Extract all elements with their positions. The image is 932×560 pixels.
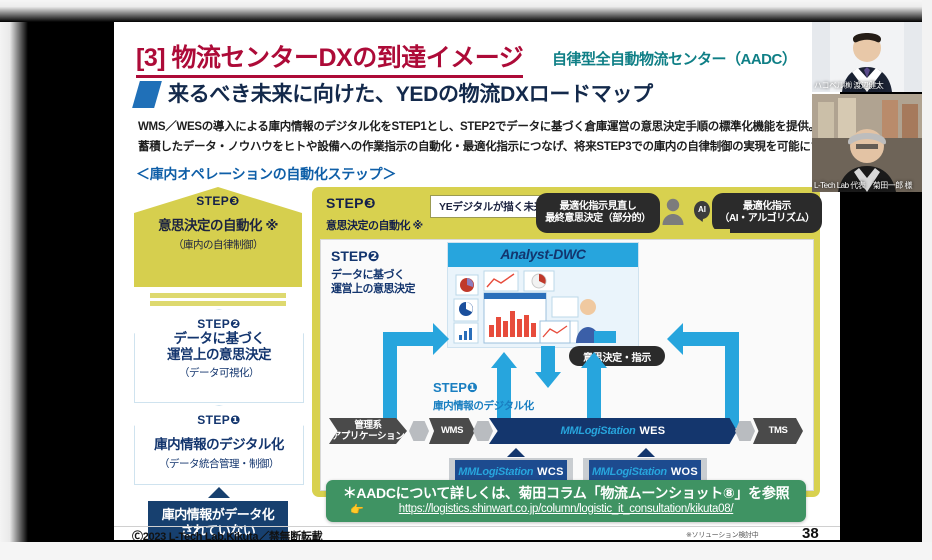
participant-tile-1[interactable]: ハコベル㈱ 渡辺健太 [812, 22, 922, 92]
ladder-step2-sub: （データ可視化） [135, 365, 303, 380]
ladder-divider-strip-2 [150, 301, 286, 306]
ladder-up-arrow-icon [208, 487, 230, 498]
analyst-dwc-card: Analyst-DWC [447, 242, 639, 348]
body-paragraph-line-2: 蓄積したデータ・ノウハウをヒトや設備への作業指示の自動化・最適化指示につなげ、将… [138, 138, 840, 154]
wes-brand: MMLogiStation [561, 425, 636, 437]
reference-banner-url[interactable]: https://logistics.shinwart.co.jp/column/… [326, 503, 806, 515]
diagram-step2-label: STEP❷ [331, 248, 379, 265]
page-title: [3] 物流センターDXの到達イメージ [136, 38, 523, 78]
diagram-step3-label: STEP❸ [326, 195, 376, 212]
blue-arrow-left-top [383, 332, 437, 346]
ladder-step2-title-2: 運営上の意思決定 [135, 347, 303, 363]
ladder-step3-label: STEP❸ [134, 194, 302, 208]
footnote-text: ※ソリューション検討中 [686, 530, 758, 540]
ladder-step2: STEP❷ データに基づく 運営上の意思決定 （データ可視化） [134, 309, 304, 403]
blue-arrow-right-top [683, 332, 739, 346]
pill-optimize-ai: 最適化指示 （AI・アルゴリズム） [712, 193, 822, 233]
lead-accent-bar [132, 81, 162, 108]
wcs-up-arrow-icon [507, 448, 525, 457]
reference-banner: ＊AADCについて詳しくは、菊田コラム「物流ムーンショット⑧」を参照 👉 htt… [326, 480, 806, 522]
ladder-step1-title: 庫内情報のデジタル化 [135, 433, 303, 453]
chain-wms: WMS [429, 418, 475, 444]
ladder-step1-sub: （データ統合管理・制御） [135, 456, 303, 471]
wcs-suffix: WCS [537, 466, 564, 478]
participant-1-name: ハコベル㈱ 渡辺健太 [814, 80, 883, 91]
ladder-divider-strip-1 [150, 293, 286, 298]
video-conference-viewer: [3] 物流センターDXの到達イメージ 自律型全自動物流センター（AADC） 来… [0, 0, 932, 560]
blue-arrow-down-shaft [541, 346, 555, 374]
svg-text:AI: AI [698, 205, 706, 214]
blue-arrow-down-head [535, 372, 561, 388]
chain-connector-1 [409, 421, 429, 441]
participant-2-name: L-Tech Lab 代表 菊田一郎 様 [814, 180, 912, 191]
participant-2-video [812, 94, 922, 192]
diagram-step2-sub-1: データに基づく [331, 268, 405, 282]
blue-arrow-up-head-1 [491, 352, 517, 368]
wos-brand: MMLogiStation [592, 466, 667, 478]
ladder-step3: STEP❸ 意思決定の自動化 ※ （庫内の自律制御） [134, 187, 302, 287]
ladder-step3-title: 意思決定の自動化 ※ [134, 214, 302, 234]
participant-tile-2[interactable]: L-Tech Lab 代表 菊田一郎 様 [812, 94, 922, 192]
future-vision-badge: YEデジタルが描く未来 [430, 195, 553, 218]
wcs-brand: MMLogiStation [458, 466, 533, 478]
automation-diagram: STEP❸ 意思決定の自動化 ※ YEデジタルが描く未来 最適化指示見直し 最終… [312, 187, 820, 497]
analyst-dwc-screenshot [448, 269, 638, 347]
diagram-step1-sub: 庫内情報のデジタル化 [433, 398, 534, 413]
section-label: ＜庫内オペレーションの自動化ステップ＞ [136, 164, 396, 184]
lead-heading: 来るべき未来に向けた、YEDの物流DXロードマップ [136, 78, 836, 112]
chain-wes: MMLogiStation WES [489, 418, 737, 444]
presentation-slide: [3] 物流センターDXの到達イメージ 自律型全自動物流センター（AADC） 来… [114, 22, 840, 540]
chain-admin-app: 管理系 アプリケーション [329, 418, 407, 444]
ladder-step1: STEP❶ 庫内情報のデジタル化 （データ統合管理・制御） [134, 405, 304, 485]
copyright-text: Ⓒ2023 L-Tech Lab,Kikuta／禁無断転載 [132, 528, 322, 540]
blue-arrow-head-left [667, 323, 683, 355]
viewer-bottom-edge [0, 542, 932, 560]
ladder-step2-label: STEP❷ [135, 317, 303, 331]
viewer-left-edge [0, 0, 28, 560]
participant-tiles: ハコベル㈱ 渡辺健太 L-Tech Lab 代表 菊田一郎 様 [812, 22, 922, 192]
slide-header: [3] 物流センターDXの到達イメージ 自律型全自動物流センター（AADC） [136, 38, 826, 72]
screen-share-stage: [3] 物流センターDXの到達イメージ 自律型全自動物流センター（AADC） 来… [28, 22, 922, 542]
blue-arrow-head-right [433, 323, 449, 355]
lead-heading-text: 来るべき未来に向けた、YEDの物流DXロードマップ [168, 78, 653, 108]
diagram-step3-sub: 意思決定の自動化 ※ [326, 217, 423, 233]
diagram-inner-panel: STEP❷ データに基づく 運営上の意思決定 Analyst-DWC [320, 239, 814, 491]
wes-suffix: WES [639, 425, 665, 437]
wos-suffix: WOS [671, 466, 698, 478]
page-number: 38 [802, 525, 819, 540]
ladder-step3-sub: （庫内の自律制御） [134, 237, 302, 252]
footer-divider [114, 526, 840, 527]
ai-brain-icon: AI [690, 197, 714, 223]
pill-optimize-review: 最適化指示見直し 最終意思決定（部分的） [536, 193, 660, 233]
ladder-step1-label: STEP❶ [135, 413, 303, 427]
person-icon [660, 197, 686, 225]
blue-arrow-left-shaft [383, 332, 397, 428]
chain-connector-2 [473, 421, 493, 441]
blue-arrow-right-shaft [725, 332, 739, 428]
viewer-right-edge [922, 0, 932, 560]
body-paragraph-line-1: WMS／WESの導入による庫内情報のデジタル化をSTEP1とし、STEP2でデー… [138, 118, 820, 134]
analyst-dwc-title: Analyst-DWC [448, 246, 638, 262]
diagram-step1-label: STEP❶ [433, 380, 478, 396]
viewer-top-edge [0, 0, 932, 22]
wos-up-arrow-icon [637, 448, 655, 457]
chain-tms: TMS [753, 418, 803, 444]
reference-banner-text: ＊AADCについて詳しくは、菊田コラム「物流ムーンショット⑧」を参照 [326, 483, 806, 503]
ladder-step2-title-1: データに基づく [135, 331, 303, 347]
automation-steps-ladder: STEP❸ 意思決定の自動化 ※ （庫内の自律制御） STEP❷ データに基づく… [134, 187, 304, 517]
blue-arrow-up-head-2 [581, 352, 607, 368]
page-subtitle: 自律型全自動物流センター（AADC） [552, 48, 796, 69]
diagram-step2-sub-2: 運営上の意思決定 [331, 282, 415, 296]
